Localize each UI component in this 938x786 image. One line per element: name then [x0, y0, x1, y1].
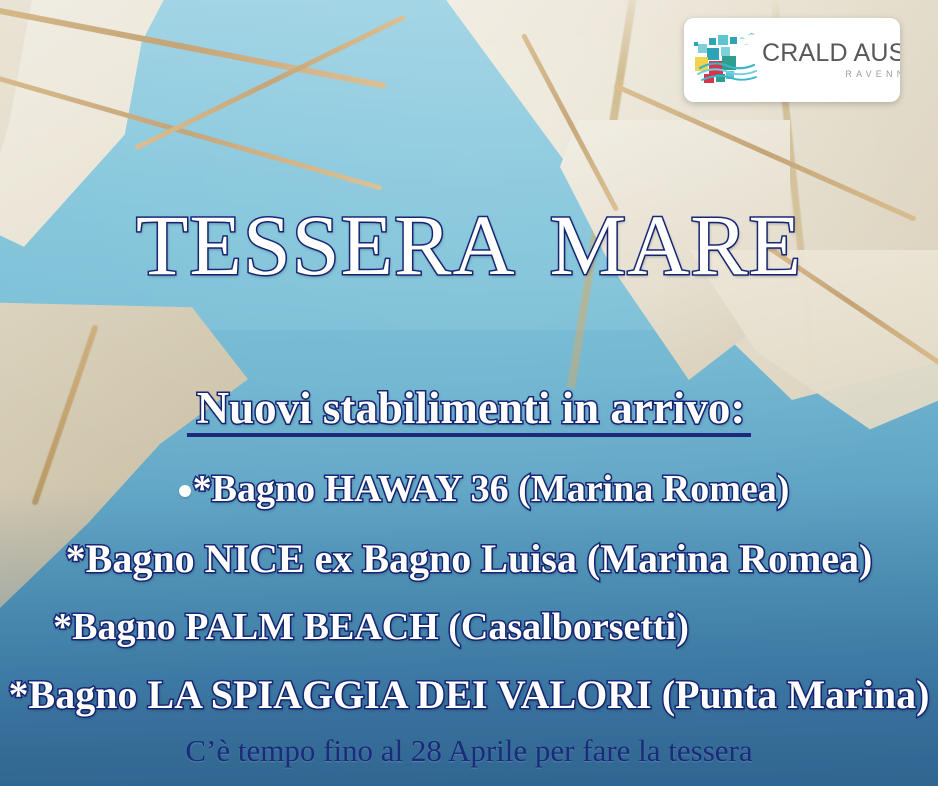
section-heading: Nuovi stabilimenti in arrivo:	[0, 386, 938, 437]
list-item: *Bagno PALM BEACH (Casalborsetti)	[0, 608, 938, 646]
page-title-word-1: TESSERA	[136, 197, 516, 293]
list-item: *Bagno HAWAY 36 (Marina Romea)	[0, 470, 938, 508]
poster-canvas: CRALD AUSL RAVENNA TESSERAMARE Nuovi sta…	[0, 0, 938, 786]
list-item: *Bagno LA SPIAGGIA DEI VALORI (Punta Mar…	[0, 675, 938, 715]
list-item: *Bagno NICE ex Bagno Luisa (Marina Romea…	[0, 539, 938, 579]
poster-content: TESSERAMARE Nuovi stabilimenti in arrivo…	[0, 0, 938, 786]
page-title-word-2: MARE	[550, 197, 802, 293]
deadline-note: C’è tempo fino al 28 Aprile per fare la …	[0, 735, 938, 766]
page-title: TESSERAMARE	[0, 202, 938, 288]
section-heading-text: Nuovi stabilimenti in arrivo:	[187, 386, 752, 437]
